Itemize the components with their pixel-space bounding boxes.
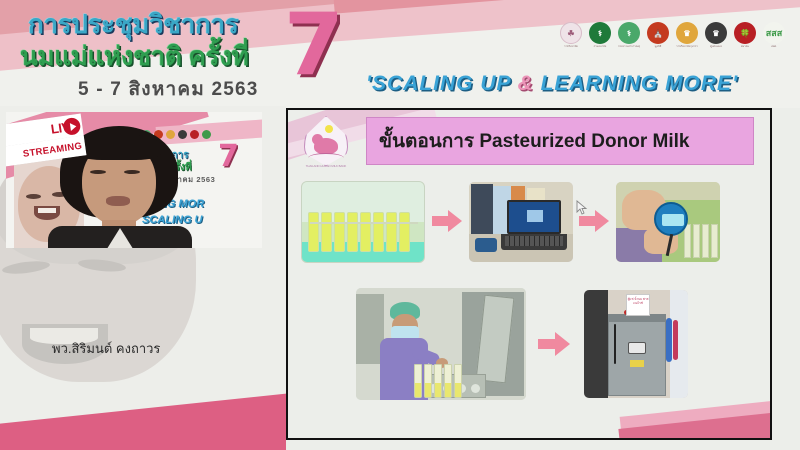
milk-bottle: [693, 224, 700, 258]
logo-caption: สมาคม: [734, 45, 756, 48]
photo-b-device: [475, 238, 497, 252]
milk-bottle: [424, 364, 432, 398]
milk-bottle: [454, 364, 462, 398]
logo-cradling-arms: [308, 153, 344, 163]
speaker-mouth: [106, 196, 130, 206]
presentation-slide-panel[interactable]: THAILAND HUMAN MILK BANK ขั้นตอนการ Past…: [286, 108, 772, 440]
freezer-display-panel: [628, 342, 646, 354]
logo-health-green: ⚕ กระทรวงสาธารณสุข: [618, 22, 640, 48]
temple-red-icon: ⛪: [647, 22, 669, 44]
black-seal-icon: ♛: [705, 22, 727, 44]
photo-a-shelf: [310, 222, 418, 224]
logo-caption: ราชวิทยาลัย: [560, 45, 582, 48]
milk-bottle: [434, 364, 442, 398]
presentation-screen: การประชุมวิชาการ นมแม่แห่งชาติ ครั้งที่ …: [0, 0, 800, 450]
baby-eye-left: [26, 194, 41, 199]
conference-title-line2: นมแม่แห่งชาติ ครั้งที่: [20, 36, 300, 77]
photo-thermometer-check[interactable]: [616, 182, 720, 262]
freezer-sign: ตู้แช่ น้ำนม พาสเจอไรซ์: [626, 294, 650, 316]
mini-logo-8-icon: [202, 130, 211, 139]
mini-logo-7-icon: [190, 130, 199, 139]
conference-header-banner: การประชุมวิชาการ นมแม่แห่งชาติ ครั้งที่ …: [0, 0, 800, 108]
milk-bottle: [399, 212, 410, 252]
milk-bottle: [334, 212, 345, 252]
milk-bottle: [414, 364, 422, 398]
ministry-green-icon: ⚕: [589, 22, 611, 44]
logo-caption: THAILAND HUMAN MILK BANK: [298, 165, 354, 169]
thermometer-display: [662, 214, 684, 226]
milk-bottle: [308, 212, 319, 252]
thaihealth-sss-icon: สสส: [763, 22, 785, 44]
milk-bottle: [684, 224, 691, 258]
process-row-2: ตู้แช่ น้ำนม พาสเจอไรซ์: [294, 282, 768, 414]
speaker-eye-left: [90, 170, 106, 174]
logo-royal-crown-gold: ♛ ราชวิทยาลัยกุมารฯ: [676, 22, 698, 48]
thai-royal-emblem-icon: ☘: [560, 22, 582, 44]
photo-laptop-records[interactable]: [469, 182, 573, 262]
photo-b-dark-shelf: [471, 184, 493, 234]
speaker-video-column: การประชุมวิชาการ นมแม่แห่งชาติ ครั้งที่ …: [0, 106, 286, 450]
laptop-keyboard: [505, 236, 563, 246]
tagline-ampersand: &: [518, 72, 534, 95]
logo-black-seal: ♛ ศูนย์นมแม่: [705, 22, 727, 48]
process-arrow-3: [538, 332, 570, 356]
process-row-1: [294, 176, 768, 271]
webcam-overlay-edition: 7: [218, 142, 239, 172]
logo-red-seal: 🍀 สมาคม: [734, 22, 756, 48]
process-arrow-1: [432, 210, 462, 232]
laptop-window: [527, 210, 543, 222]
logo-temple-red: ⛪ มูลนิธิ: [647, 22, 669, 48]
freezer-warning-sticker: [630, 360, 644, 367]
photo-freezer-unit[interactable]: ตู้แช่ น้ำนม พาสเจอไรซ์: [584, 290, 688, 398]
photo-c-bottles: [684, 208, 718, 258]
conference-date: 5 - 7 สิงหาคม 2563: [78, 74, 259, 104]
photo-d-bottle-group: [414, 346, 468, 398]
milk-droplet-dot-icon: [325, 125, 333, 133]
health-green-icon: ⚕: [618, 22, 640, 44]
milk-bottle: [702, 224, 709, 258]
digital-thermometer-dial: [654, 202, 688, 236]
freezer-power-cord: [614, 324, 616, 364]
photo-e-dark-edge: [584, 290, 608, 398]
logo-thaihealth-sss: สสส สสส.: [763, 22, 785, 48]
mouse-pointer: [576, 200, 588, 216]
logo-caption: กรมอนามัย: [589, 45, 611, 48]
logo-caption: สสส.: [763, 45, 785, 48]
milk-bottle: [373, 212, 384, 252]
freezer-red-hose: [673, 320, 678, 360]
milk-bottle: [444, 364, 452, 398]
milk-bottle: [360, 212, 371, 252]
freezer-cabinet: [608, 314, 666, 396]
photo-milk-bottle-racks[interactable]: [302, 182, 424, 262]
tray-slot: [471, 384, 480, 393]
logo-ministry-green: ⚕ กรมอนามัย: [589, 22, 611, 48]
human-milk-bank-drop-logo: THAILAND HUMAN MILK BANK: [298, 116, 354, 174]
speaker-name-label: พว.สิริมนต์ คงถาวร: [52, 338, 160, 359]
photo-nurse-pasteurizer[interactable]: [356, 288, 526, 400]
logo-baby-body: [314, 138, 338, 154]
milk-bottle: [386, 212, 397, 252]
speaker-eye-right: [124, 170, 140, 174]
logo-caption: กระทรวงสาธารณสุข: [618, 45, 640, 48]
conference-edition-number: 7: [284, 2, 344, 88]
photo-a-bottle-rack: [308, 204, 412, 252]
slide-title-text: ขั้นตอนการ Pasteurized Donor Milk: [379, 126, 689, 156]
milk-bottle: [347, 212, 358, 252]
royal-crown-gold-icon: ♛: [676, 22, 698, 44]
logo-caption: มูลนิธิ: [647, 45, 669, 48]
sponsor-logos-row: ☘ ราชวิทยาลัย ⚕ กรมอนามัย ⚕ กระทรวงสาธาร…: [560, 22, 785, 48]
conference-tagline: 'SCALING UP & LEARNING MORE': [366, 72, 738, 96]
logo-thai-royal-emblem: ☘ ราชวิทยาลัย: [560, 22, 582, 48]
freezer-blue-hose: [666, 318, 672, 362]
tagline-suffix: LEARNING MORE': [534, 72, 738, 95]
speaker-bangs: [76, 134, 162, 160]
speaker-webcam-feed[interactable]: การประชุมวิชาการ นมแม่แห่งชาติ ครั้งที่ …: [6, 112, 262, 248]
milk-bottle: [321, 212, 332, 252]
milk-bottle: [711, 224, 718, 258]
red-seal-icon: 🍀: [734, 22, 756, 44]
slide-title-banner: ขั้นตอนการ Pasteurized Donor Milk: [366, 117, 754, 165]
streaming-label: STREAMING: [22, 140, 83, 159]
logo-caption: ราชวิทยาลัยกุมารฯ: [676, 45, 698, 48]
tagline-prefix: 'SCALING UP: [366, 72, 518, 95]
logo-caption: ศูนย์นมแม่: [705, 45, 727, 48]
